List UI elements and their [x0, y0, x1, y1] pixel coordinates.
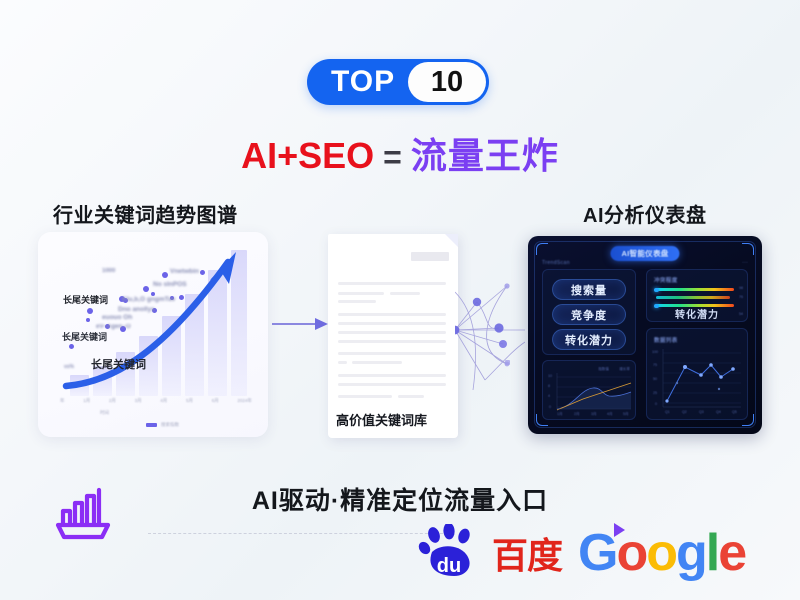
- axis-tick: 年: [60, 398, 65, 404]
- trend-chart-plot: 1000 Vnetwbin No sInPOS Klu,b,O gngmTav …: [60, 246, 250, 396]
- dashboard-brand-label: TrendScan: [542, 260, 570, 266]
- axis-tick: 1月: [83, 398, 90, 404]
- scatter-dot: [86, 318, 90, 322]
- axis-tick: 5月: [186, 398, 193, 404]
- long-tail-keyword-label: 长尾关键词: [91, 356, 146, 372]
- graph-node: [473, 298, 481, 306]
- graph-node: [505, 360, 510, 365]
- axis-tick: 3月: [135, 398, 142, 404]
- gauge-panel-title: 冲突程度: [654, 276, 678, 284]
- document-text-line: [338, 300, 376, 303]
- frame-corner-icon: [536, 243, 548, 255]
- axis-tick: 0: [655, 402, 657, 406]
- gauge-tick: 54: [739, 312, 743, 316]
- axis-tick: Q1: [665, 410, 670, 414]
- dashboard-menu-icon[interactable]: ···: [742, 260, 748, 266]
- scatter-dot: [143, 286, 149, 292]
- long-tail-keyword-label: 长尾关键词: [62, 330, 107, 343]
- axis-tick: 4月: [160, 398, 167, 404]
- axis-tick: 10: [548, 374, 552, 378]
- metric-pill-search-volume[interactable]: 搜索量: [552, 279, 626, 300]
- axis-tick: 4: [548, 394, 550, 398]
- top-badge-number-circle: 10: [408, 62, 486, 102]
- document-header-block: [411, 252, 449, 261]
- graph-node: [504, 283, 509, 288]
- axis-tick: 1月: [557, 412, 563, 417]
- axis-tick: 25: [653, 391, 657, 395]
- scatter-dot: [162, 272, 168, 278]
- axis-tick: 75: [653, 363, 657, 367]
- play-triangle-icon: [614, 523, 625, 537]
- bottom-divider: [148, 533, 448, 534]
- bottom-slogan: AI驱动·精准定位流量入口: [0, 481, 800, 517]
- gauge-bar: [656, 288, 734, 291]
- top-badge-number: 10: [431, 66, 463, 99]
- blurred-node-label: Vnetwbin: [170, 268, 199, 275]
- axis-tick: 0: [549, 405, 551, 409]
- gauge-bar: [656, 296, 730, 299]
- axis-tick: 2024年: [237, 398, 252, 404]
- legend-swatch: [146, 423, 157, 427]
- graph-node: [499, 340, 507, 348]
- metric-pill-conversion[interactable]: 转化潜力: [552, 329, 626, 350]
- axis-tick: Q5: [732, 410, 737, 414]
- google-letter-g1: G: [578, 523, 616, 583]
- blurred-node-label: vs%: [64, 364, 74, 370]
- top-badge-label: TOP: [331, 65, 395, 99]
- google-letter-e: e: [718, 523, 745, 583]
- area-chart-panel: 指数值 增长率 10 8 4 0 1月 2月 3月 4月 5月: [542, 360, 636, 420]
- baidu-logo-icon: du: [418, 524, 490, 582]
- legend-label: 搜索指数: [161, 422, 179, 428]
- baidu-du-text: du: [437, 555, 461, 577]
- trend-chart-x-axis: 年 1月 2月 3月 4月 5月 6月 2024年: [60, 398, 252, 404]
- long-tail-keyword-label: 长尾关键词: [63, 293, 108, 306]
- axis-tick: 2月: [574, 412, 580, 417]
- axis-tick: 5月: [623, 412, 629, 417]
- keyword-trend-chart-card: 1000 Vnetwbin No sInPOS Klu,b,O gngmTav …: [38, 232, 268, 437]
- document-text-line: [338, 395, 392, 398]
- axis-tick: 50: [653, 377, 657, 381]
- document-text-line: [398, 395, 424, 398]
- blurred-node-label: Dno anollys: [118, 306, 155, 313]
- trend-chart-x-label: 时间: [100, 410, 109, 416]
- gauge-knob[interactable]: [654, 304, 659, 309]
- document-text-line: [338, 374, 446, 377]
- title-equals-sign: =: [374, 139, 411, 175]
- title-part-ai-seo: AI+SEO: [241, 135, 374, 176]
- document-title: 高价值关键词库: [336, 410, 427, 429]
- blurred-node-label: No sInPOS: [153, 281, 187, 288]
- title-part-traffic: 流量王炸: [411, 135, 559, 176]
- document-text-line: [338, 383, 446, 386]
- gauge-tick: 76: [739, 295, 743, 299]
- document-text-line: [338, 313, 446, 316]
- google-letter-l: l: [706, 523, 718, 583]
- line-chart: [647, 329, 749, 421]
- graph-node: [494, 323, 503, 332]
- document-text-line: [338, 352, 446, 355]
- blurred-node-label: 1000: [102, 268, 115, 274]
- document-text-line: [338, 331, 446, 334]
- document-text-line: [390, 292, 420, 295]
- google-logo: Google: [578, 523, 745, 583]
- keyword-library-document-card: 高价值关键词库: [328, 234, 458, 438]
- scatter-dot: [87, 308, 93, 314]
- knowledge-graph-network: [455, 272, 525, 392]
- gauge-tick: 98: [739, 286, 743, 290]
- google-letter-g2: g: [676, 523, 706, 583]
- frame-corner-icon: [742, 243, 754, 255]
- axis-tick: 6月: [212, 398, 219, 404]
- ai-analysis-dashboard: AI智能仪表盘 TrendScan ··· 搜索量 竞争度 转化潜力 冲突程度 …: [528, 236, 762, 434]
- scatter-dot: [69, 344, 74, 349]
- axis-tick: Q4: [716, 410, 721, 414]
- document-text-line: [338, 340, 446, 343]
- baidu-label: 百度: [492, 527, 562, 579]
- document-text-line: [338, 322, 446, 325]
- document-text-line: [352, 361, 402, 364]
- document-text-line: [338, 282, 446, 285]
- flow-arrow-icon: [272, 318, 328, 330]
- gauge-panel: 冲突程度 转化潜力 98 76 54: [646, 269, 748, 322]
- axis-tick: 3月: [591, 412, 597, 417]
- axis-tick: 4月: [607, 412, 613, 417]
- document-text-line: [338, 361, 347, 364]
- blurred-node-label: euouo Oh: [102, 314, 132, 321]
- axis-tick: 8: [548, 384, 550, 388]
- blurred-node-label: Klu,b,O gngmTav: [122, 296, 175, 303]
- line-chart-panel: 数据列表 100 75 50 25 0 Q1 Q2 Q3 Q4 Q: [646, 328, 748, 420]
- scatter-dot: [179, 295, 184, 300]
- document-text-line: [338, 292, 384, 295]
- section-heading-ai-dashboard: AI分析仪表盘: [583, 199, 707, 228]
- axis-tick: Q2: [682, 410, 687, 414]
- scatter-dot: [200, 270, 205, 275]
- dashboard-title-badge: AI智能仪表盘: [610, 246, 679, 261]
- section-heading-keyword-trend: 行业关键词趋势图谱: [53, 199, 238, 228]
- top-rank-badge: TOP 10: [307, 59, 489, 105]
- axis-tick: 100: [652, 350, 658, 354]
- page-title: AI+SEO=流量王炸: [0, 127, 800, 179]
- trend-chart-legend: 搜索指数: [146, 422, 179, 428]
- gauge-overlay-label: 转化潜力: [675, 306, 719, 321]
- metrics-panel: 搜索量 竞争度 转化潜力: [542, 269, 636, 355]
- axis-tick: Q3: [699, 410, 704, 414]
- gauge-knob[interactable]: [654, 288, 659, 293]
- page-fold-corner-icon: [445, 234, 458, 247]
- metric-pill-competition[interactable]: 竞争度: [552, 304, 626, 325]
- axis-tick: 2月: [109, 398, 116, 404]
- search-engine-logos: du 百度 Google: [418, 521, 745, 585]
- google-letter-o2: o: [646, 523, 676, 583]
